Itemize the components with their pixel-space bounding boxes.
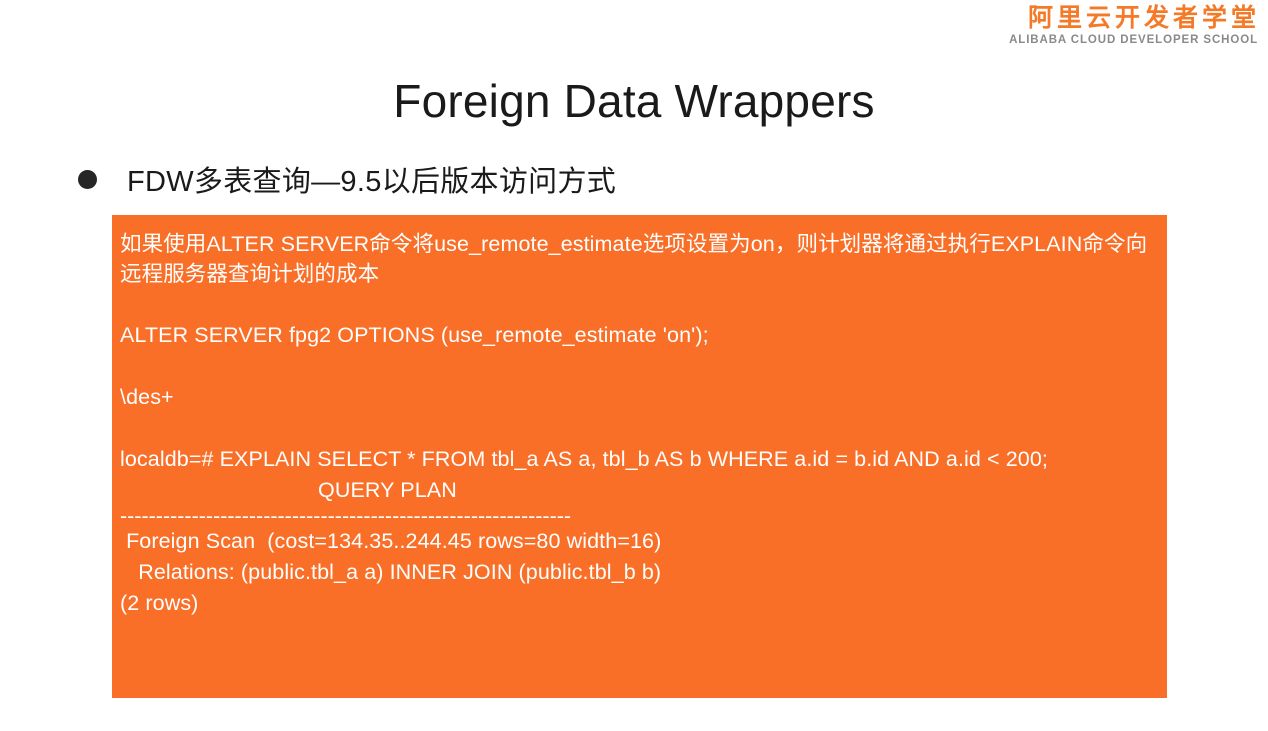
code-line-query-plan-header: QUERY PLAN [120, 475, 1157, 506]
brand-logo: 阿里云开发者学堂 ALIBABA CLOUD DEVELOPER SCHOOL [1009, 6, 1260, 47]
bullet-item-label: FDW多表查询—9.5以后版本访问方式 [127, 158, 616, 200]
slide-root: { "brand": { "cn": "阿里云开发者学堂", "en": "AL… [0, 0, 1268, 731]
brand-logo-english: ALIBABA CLOUD DEVELOPER SCHOOL [1009, 35, 1260, 47]
code-panel: 如果使用ALTER SERVER命令将use_remote_estimate选项… [112, 215, 1167, 698]
code-line-spacer [120, 289, 1157, 320]
code-line-relations: Relations: (public.tbl_a a) INNER JOIN (… [120, 557, 1157, 588]
page-title: Foreign Data Wrappers [0, 74, 1268, 128]
code-line-paragraph: 如果使用ALTER SERVER命令将use_remote_estimate选项… [120, 229, 1157, 289]
brand-logo-chinese: 阿里云开发者学堂 [1009, 6, 1260, 31]
code-line-spacer [120, 413, 1157, 444]
code-line-alter-server: ALTER SERVER fpg2 OPTIONS (use_remote_es… [120, 320, 1157, 351]
code-line-separator: ----------------------------------------… [120, 506, 880, 526]
code-line-row-count: (2 rows) [120, 588, 1157, 619]
code-line-explain-query: localdb=# EXPLAIN SELECT * FROM tbl_a AS… [120, 444, 1157, 475]
bullet-dot-icon [78, 170, 97, 189]
code-line-foreign-scan: Foreign Scan (cost=134.35..244.45 rows=8… [120, 526, 1157, 557]
code-line-spacer [120, 351, 1157, 382]
code-line-des-plus: \des+ [120, 382, 1157, 413]
bullet-item: FDW多表查询—9.5以后版本访问方式 [78, 158, 616, 200]
